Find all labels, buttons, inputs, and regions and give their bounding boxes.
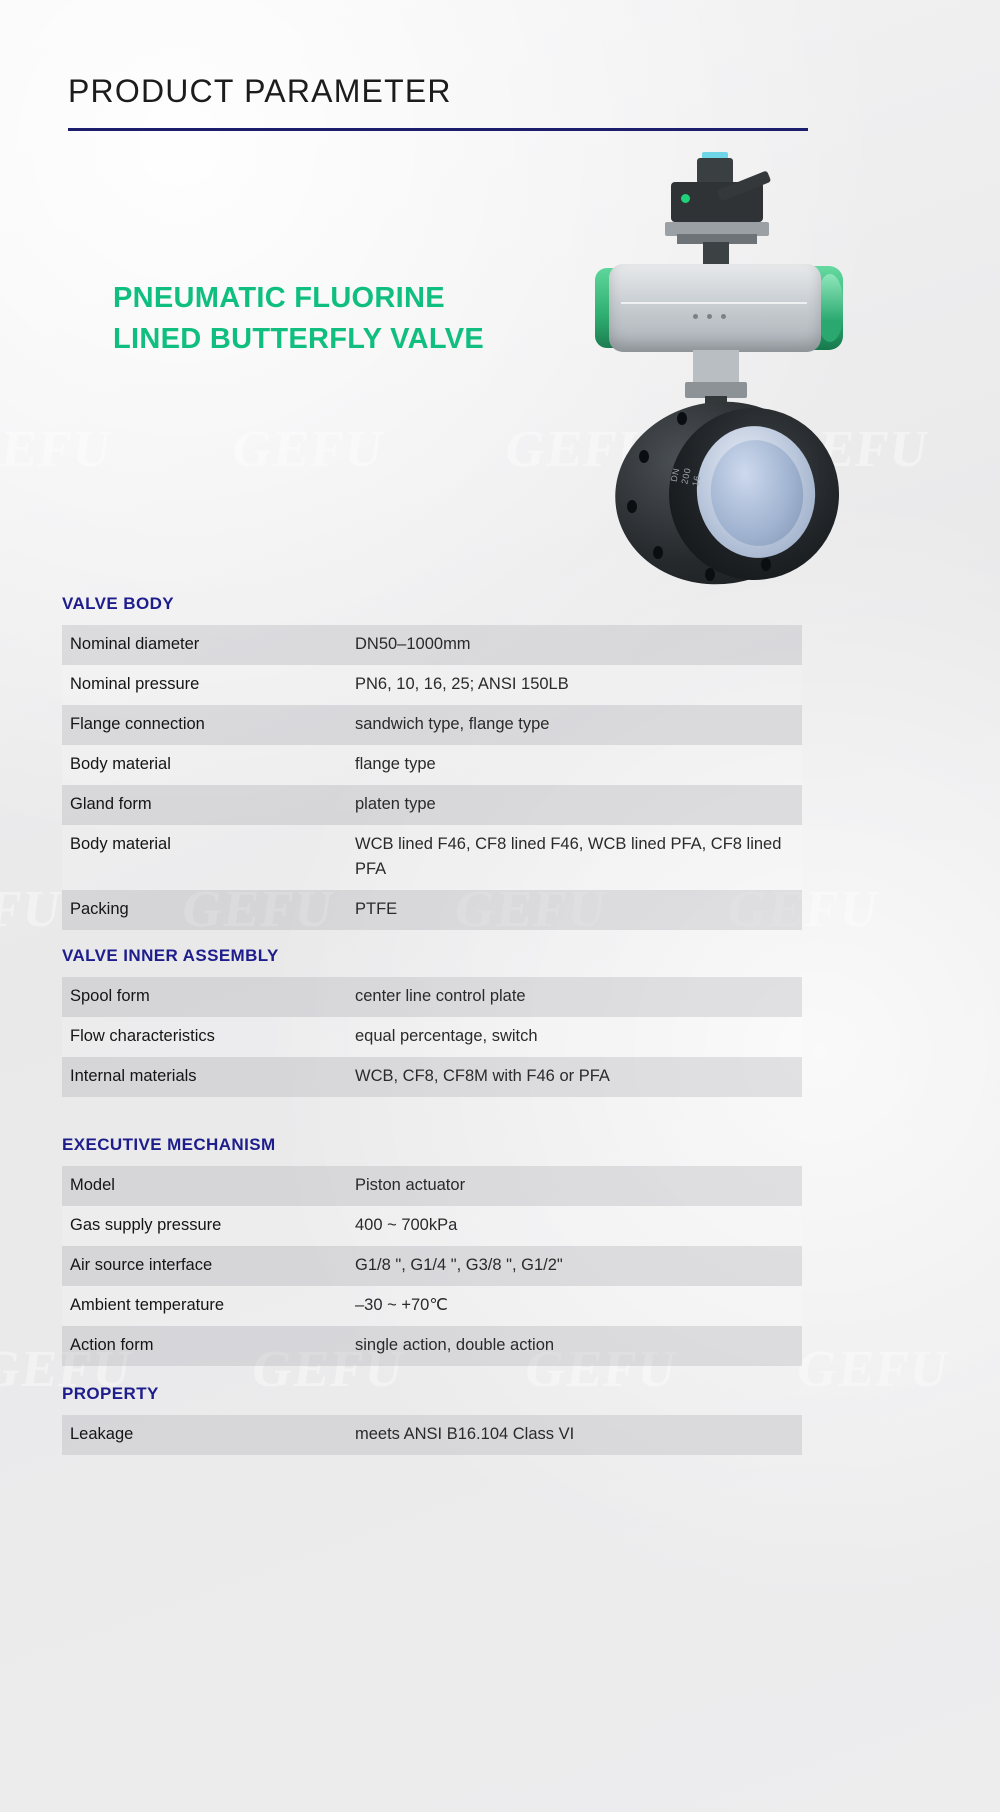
section-valve-body: VALVE BODY Nominal diameter DN50–1000mm … bbox=[62, 594, 802, 930]
param-key: Gland form bbox=[62, 785, 345, 825]
param-key: Gas supply pressure bbox=[62, 1206, 345, 1246]
table-row: Packing PTFE bbox=[62, 890, 802, 930]
section-title: PROPERTY bbox=[62, 1384, 802, 1404]
param-value: 400 ~ 700kPa bbox=[345, 1206, 802, 1246]
section-property: PROPERTY Leakage meets ANSI B16.104 Clas… bbox=[62, 1384, 802, 1455]
param-value: PN6, 10, 16, 25; ANSI 150LB bbox=[345, 665, 802, 705]
param-value: –30 ~ +70℃ bbox=[345, 1286, 802, 1326]
actuator-bolt bbox=[693, 314, 698, 319]
param-key: Flange connection bbox=[62, 705, 345, 745]
watermark-text: GEFU bbox=[0, 880, 67, 939]
param-key: Model bbox=[62, 1166, 345, 1206]
table-row: Body material flange type bbox=[62, 745, 802, 785]
actuator-seam-line bbox=[621, 302, 807, 304]
table-row: Spool form center line control plate bbox=[62, 977, 802, 1017]
section-executive-mechanism: EXECUTIVE MECHANISM Model Piston actuato… bbox=[62, 1135, 802, 1366]
section-title: EXECUTIVE MECHANISM bbox=[62, 1135, 802, 1155]
params-table: Spool form center line control plate Flo… bbox=[62, 977, 802, 1097]
watermark-text: GEFU bbox=[0, 420, 117, 479]
param-value: WCB lined F46, CF8 lined F46, WCB lined … bbox=[345, 825, 802, 890]
flange-bolt-hole bbox=[627, 500, 637, 513]
params-table: Leakage meets ANSI B16.104 Class VI bbox=[62, 1415, 802, 1455]
param-key: Body material bbox=[62, 825, 345, 890]
param-key: Ambient temperature bbox=[62, 1286, 345, 1326]
param-key: Flow characteristics bbox=[62, 1017, 345, 1057]
param-key: Nominal pressure bbox=[62, 665, 345, 705]
param-key: Packing bbox=[62, 890, 345, 930]
page-header: PRODUCT PARAMETER bbox=[68, 72, 808, 131]
param-value: single action, double action bbox=[345, 1326, 802, 1366]
table-row: Nominal diameter DN50–1000mm bbox=[62, 625, 802, 665]
indicator-led-icon bbox=[681, 194, 690, 203]
actuator-yoke bbox=[693, 350, 739, 384]
actuator-bolt bbox=[721, 314, 726, 319]
param-key: Air source interface bbox=[62, 1246, 345, 1286]
table-row: Air source interface G1/8 ", G1/4 ", G3/… bbox=[62, 1246, 802, 1286]
param-key: Internal materials bbox=[62, 1057, 345, 1097]
flange-bolt-hole bbox=[705, 568, 715, 581]
param-value: flange type bbox=[345, 745, 802, 785]
table-row: Gland form platen type bbox=[62, 785, 802, 825]
params-table: Nominal diameter DN50–1000mm Nominal pre… bbox=[62, 625, 802, 930]
table-row: Flange connection sandwich type, flange … bbox=[62, 705, 802, 745]
param-value: sandwich type, flange type bbox=[345, 705, 802, 745]
table-row: Flow characteristics equal percentage, s… bbox=[62, 1017, 802, 1057]
param-value: meets ANSI B16.104 Class VI bbox=[345, 1415, 802, 1455]
param-key: Nominal diameter bbox=[62, 625, 345, 665]
section-title: VALVE BODY bbox=[62, 594, 802, 614]
piston-actuator-cylinder bbox=[609, 264, 821, 352]
flange-bolt-hole bbox=[677, 412, 687, 425]
flange-bolt-hole bbox=[639, 450, 649, 463]
solenoid-valve-body bbox=[697, 158, 733, 184]
header-divider bbox=[68, 128, 808, 131]
section-valve-inner-assembly: VALVE INNER ASSEMBLY Spool form center l… bbox=[62, 946, 802, 1097]
page-title: PRODUCT PARAMETER bbox=[68, 72, 808, 110]
section-title: VALVE INNER ASSEMBLY bbox=[62, 946, 802, 966]
table-row: Ambient temperature –30 ~ +70℃ bbox=[62, 1286, 802, 1326]
table-row: Leakage meets ANSI B16.104 Class VI bbox=[62, 1415, 802, 1455]
param-value: DN50–1000mm bbox=[345, 625, 802, 665]
param-key: Leakage bbox=[62, 1415, 345, 1455]
table-row: Gas supply pressure 400 ~ 700kPa bbox=[62, 1206, 802, 1246]
table-row: Body material WCB lined F46, CF8 lined F… bbox=[62, 825, 802, 890]
param-key: Body material bbox=[62, 745, 345, 785]
flange-bolt-hole bbox=[653, 546, 663, 559]
param-key: Spool form bbox=[62, 977, 345, 1017]
param-value: platen type bbox=[345, 785, 802, 825]
param-value: center line control plate bbox=[345, 977, 802, 1017]
params-table: Model Piston actuator Gas supply pressur… bbox=[62, 1166, 802, 1366]
table-row: Nominal pressure PN6, 10, 16, 25; ANSI 1… bbox=[62, 665, 802, 705]
actuator-bolt bbox=[707, 314, 712, 319]
watermark-text: GEFU bbox=[793, 1340, 954, 1399]
param-value: WCB, CF8, CF8M with F46 or PFA bbox=[345, 1057, 802, 1097]
param-value: PTFE bbox=[345, 890, 802, 930]
flange-bolt-hole bbox=[761, 558, 771, 571]
param-value: equal percentage, switch bbox=[345, 1017, 802, 1057]
table-row: Model Piston actuator bbox=[62, 1166, 802, 1206]
param-value: Piston actuator bbox=[345, 1166, 802, 1206]
table-row: Action form single action, double action bbox=[62, 1326, 802, 1366]
product-name-heading: PNEUMATIC FLUORINE LINED BUTTERFLY VALVE bbox=[113, 278, 513, 360]
product-parameter-page: GEFU GEFU GEFU GEFU GEFU GEFU GEFU GEFU … bbox=[0, 0, 1000, 1812]
product-photo: DN 200 16 bbox=[565, 150, 865, 580]
watermark-text: GEFU bbox=[228, 420, 389, 479]
param-key: Action form bbox=[62, 1326, 345, 1366]
table-row: Internal materials WCB, CF8, CF8M with F… bbox=[62, 1057, 802, 1097]
param-value: G1/8 ", G1/4 ", G3/8 ", G1/2" bbox=[345, 1246, 802, 1286]
